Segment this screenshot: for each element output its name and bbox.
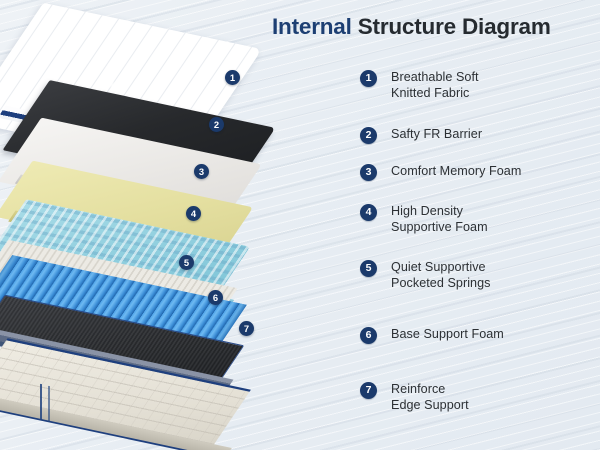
legend-badge-4: 4 [360, 204, 377, 221]
legend-item-5[interactable]: 5 Quiet Supportive Pocketed Springs [360, 260, 491, 291]
legend-badge-5: 5 [360, 260, 377, 277]
legend-label-5: Quiet Supportive Pocketed Springs [391, 260, 491, 291]
legend-badge-6: 6 [360, 327, 377, 344]
base-seam-line-secondary [48, 386, 50, 422]
title-highlight: Internal [272, 14, 352, 39]
legend-badge-2: 2 [360, 127, 377, 144]
legend-item-2[interactable]: 2 Safty FR Barrier [360, 127, 482, 144]
legend-label-2: Safty FR Barrier [391, 127, 482, 143]
legend-item-1[interactable]: 1 Breathable Soft Knitted Fabric [360, 70, 479, 101]
mattress-exploded-illustration: 1 2 3 4 5 6 7 [0, 8, 342, 444]
legend-badge-7: 7 [360, 382, 377, 399]
title-rest: Structure Diagram [352, 14, 551, 39]
page-title: Internal Structure Diagram [272, 14, 592, 40]
callout-badge-5[interactable]: 5 [179, 255, 194, 270]
callout-badge-2[interactable]: 2 [209, 117, 224, 132]
callout-badge-4[interactable]: 4 [186, 206, 201, 221]
base-seam-line [40, 384, 42, 420]
legend-badge-1: 1 [360, 70, 377, 87]
legend-item-4[interactable]: 4 High Density Supportive Foam [360, 204, 488, 235]
legend-label-6: Base Support Foam [391, 327, 504, 343]
legend-item-6[interactable]: 6 Base Support Foam [360, 327, 504, 344]
legend-badge-3: 3 [360, 164, 377, 181]
legend-label-4: High Density Supportive Foam [391, 204, 488, 235]
legend-label-3: Comfort Memory Foam [391, 164, 521, 180]
callout-badge-3[interactable]: 3 [194, 164, 209, 179]
diagram-canvas: 1 2 3 4 5 6 7 Internal Structure Diagram… [0, 0, 600, 450]
legend-item-7[interactable]: 7 Reinforce Edge Support [360, 382, 469, 413]
callout-badge-7[interactable]: 7 [239, 321, 254, 336]
callout-badge-1[interactable]: 1 [225, 70, 240, 85]
legend-label-1: Breathable Soft Knitted Fabric [391, 70, 479, 101]
callout-badge-6[interactable]: 6 [208, 290, 223, 305]
legend-label-7: Reinforce Edge Support [391, 382, 469, 413]
legend-item-3[interactable]: 3 Comfort Memory Foam [360, 164, 521, 181]
